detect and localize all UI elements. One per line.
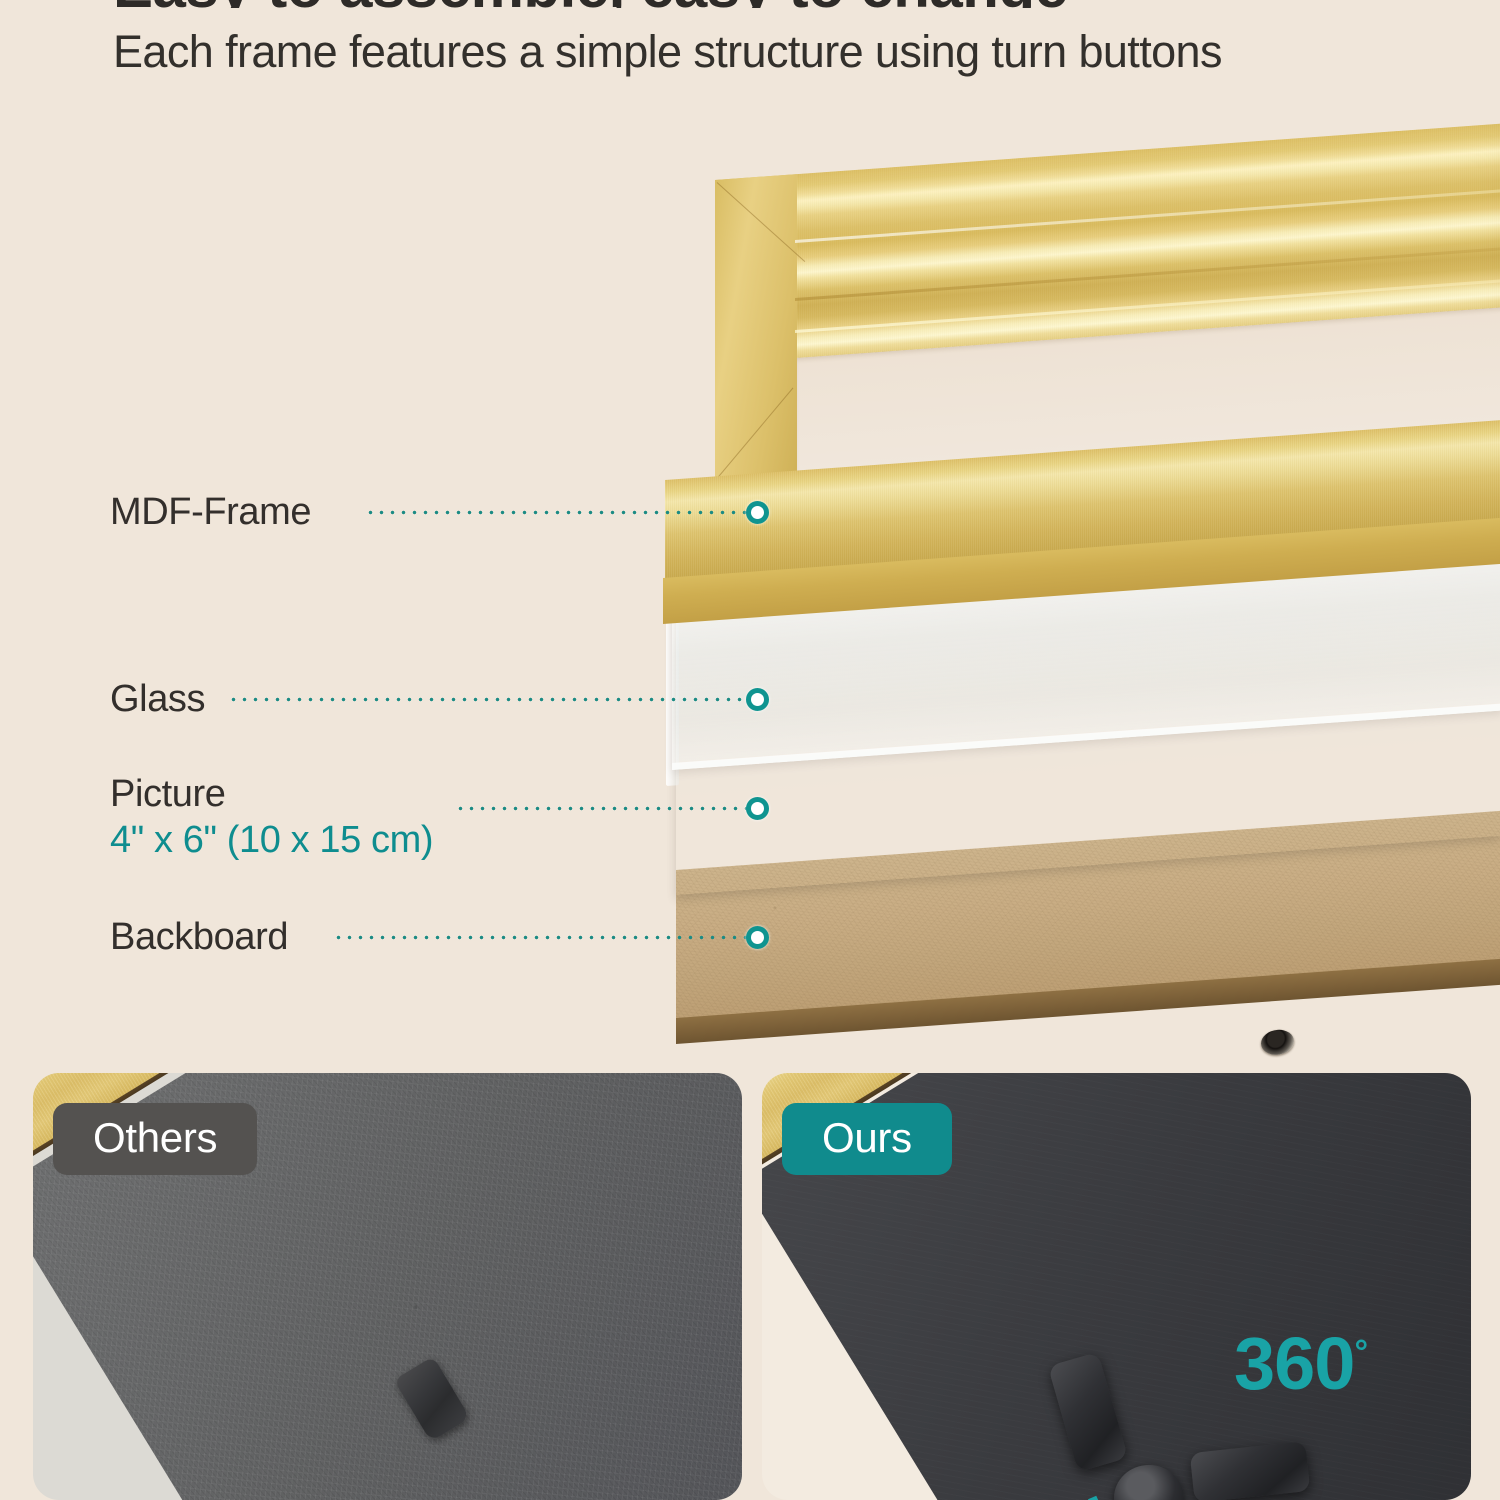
leader-dot-backboard xyxy=(746,926,769,949)
page-subtitle: Each frame features a simple structure u… xyxy=(113,26,1222,78)
leader-line-picture xyxy=(455,806,753,811)
badge-ours: Ours xyxy=(782,1103,952,1175)
callout-degree-symbol: ° xyxy=(1354,1333,1367,1371)
frame-left-bevel xyxy=(715,174,797,485)
exploded-diagram: MDF-Frame Glass Picture 4" x 6" (10 x 15… xyxy=(0,110,1500,1060)
leader-dot-mdf-frame xyxy=(746,501,769,524)
badge-others: Others xyxy=(53,1103,257,1175)
label-picture-size: 4" x 6" (10 x 15 cm) xyxy=(110,819,433,862)
comparison-panel-ours: 360° Ours xyxy=(762,1073,1471,1500)
leader-dot-glass xyxy=(746,688,769,711)
label-mdf-frame: MDF-Frame xyxy=(110,491,311,534)
callout-360-number: 360 xyxy=(1234,1322,1354,1405)
comparison-panel-others: Others xyxy=(33,1073,742,1500)
header: Easy to assemble, easy to change Each fr… xyxy=(0,0,1500,110)
leader-line-glass xyxy=(228,697,753,702)
leader-line-mdf-frame xyxy=(365,510,753,515)
page-title: Easy to assemble, easy to change xyxy=(113,0,1067,8)
callout-360-degrees: 360° xyxy=(1234,1327,1367,1401)
label-backboard: Backboard xyxy=(110,916,288,959)
turn-button-rivet-icon xyxy=(1261,1029,1294,1056)
leader-line-backboard xyxy=(333,935,753,940)
comparison-section: Others 360° Ours xyxy=(0,1073,1500,1500)
leader-dot-picture xyxy=(746,797,769,820)
label-picture: Picture xyxy=(110,773,225,816)
mdf-frame-layer xyxy=(655,180,1500,710)
label-glass: Glass xyxy=(110,678,205,721)
